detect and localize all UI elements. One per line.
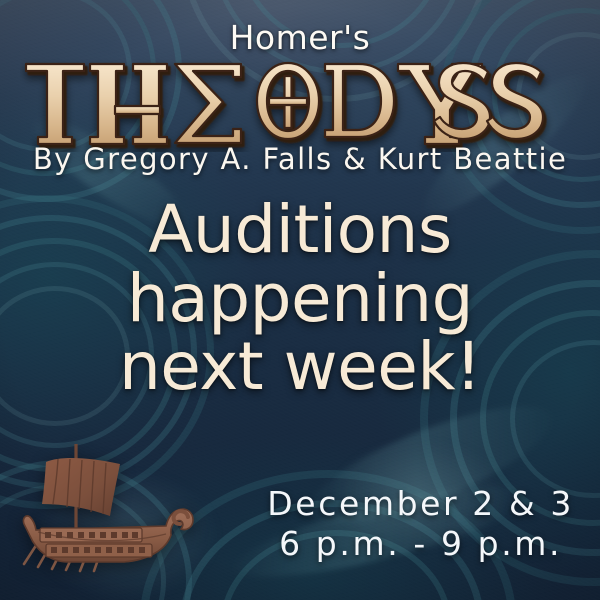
headline-line-1: Auditions: [0, 196, 600, 265]
byline-text: By Gregory A. Falls & Kurt Beattie: [0, 142, 600, 176]
ship-upper-ports: [45, 532, 138, 538]
odyssey-audition-poster: Homer's: [0, 0, 600, 600]
audition-time: 6 p.m. - 9 p.m.: [267, 524, 574, 564]
show-title: [0, 52, 600, 152]
headline-line-3: next week!: [0, 333, 600, 402]
headline-block: Auditions happening next week!: [0, 196, 600, 402]
title-artwork: [20, 52, 580, 152]
headline-line-2: happening: [0, 265, 600, 334]
greek-ship-icon: [16, 438, 206, 588]
ship-lower-ports: [51, 547, 145, 553]
audition-datetime: December 2 & 3 6 p.m. - 9 p.m.: [267, 484, 574, 565]
audition-date: December 2 & 3: [267, 484, 574, 524]
